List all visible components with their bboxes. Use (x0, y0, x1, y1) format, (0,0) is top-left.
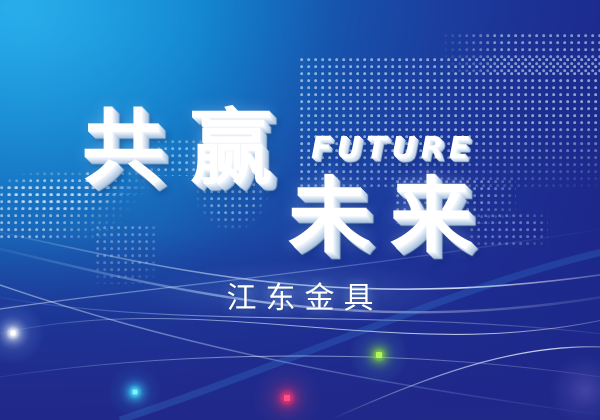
headline-char-gong: 共 (82, 108, 164, 190)
promotional-banner: 共 赢 FUTURE 未 来 江东金具 (0, 0, 600, 420)
brand-name: 江东金具 (0, 273, 600, 317)
headline-char-ying: 赢 (190, 108, 272, 190)
headline-latin-future: FUTURE (311, 131, 474, 166)
headline-char-lai: 来 (390, 176, 472, 258)
headline-char-wei: 未 (288, 176, 370, 258)
headline-group: 共 赢 FUTURE 未 来 (0, 0, 600, 420)
